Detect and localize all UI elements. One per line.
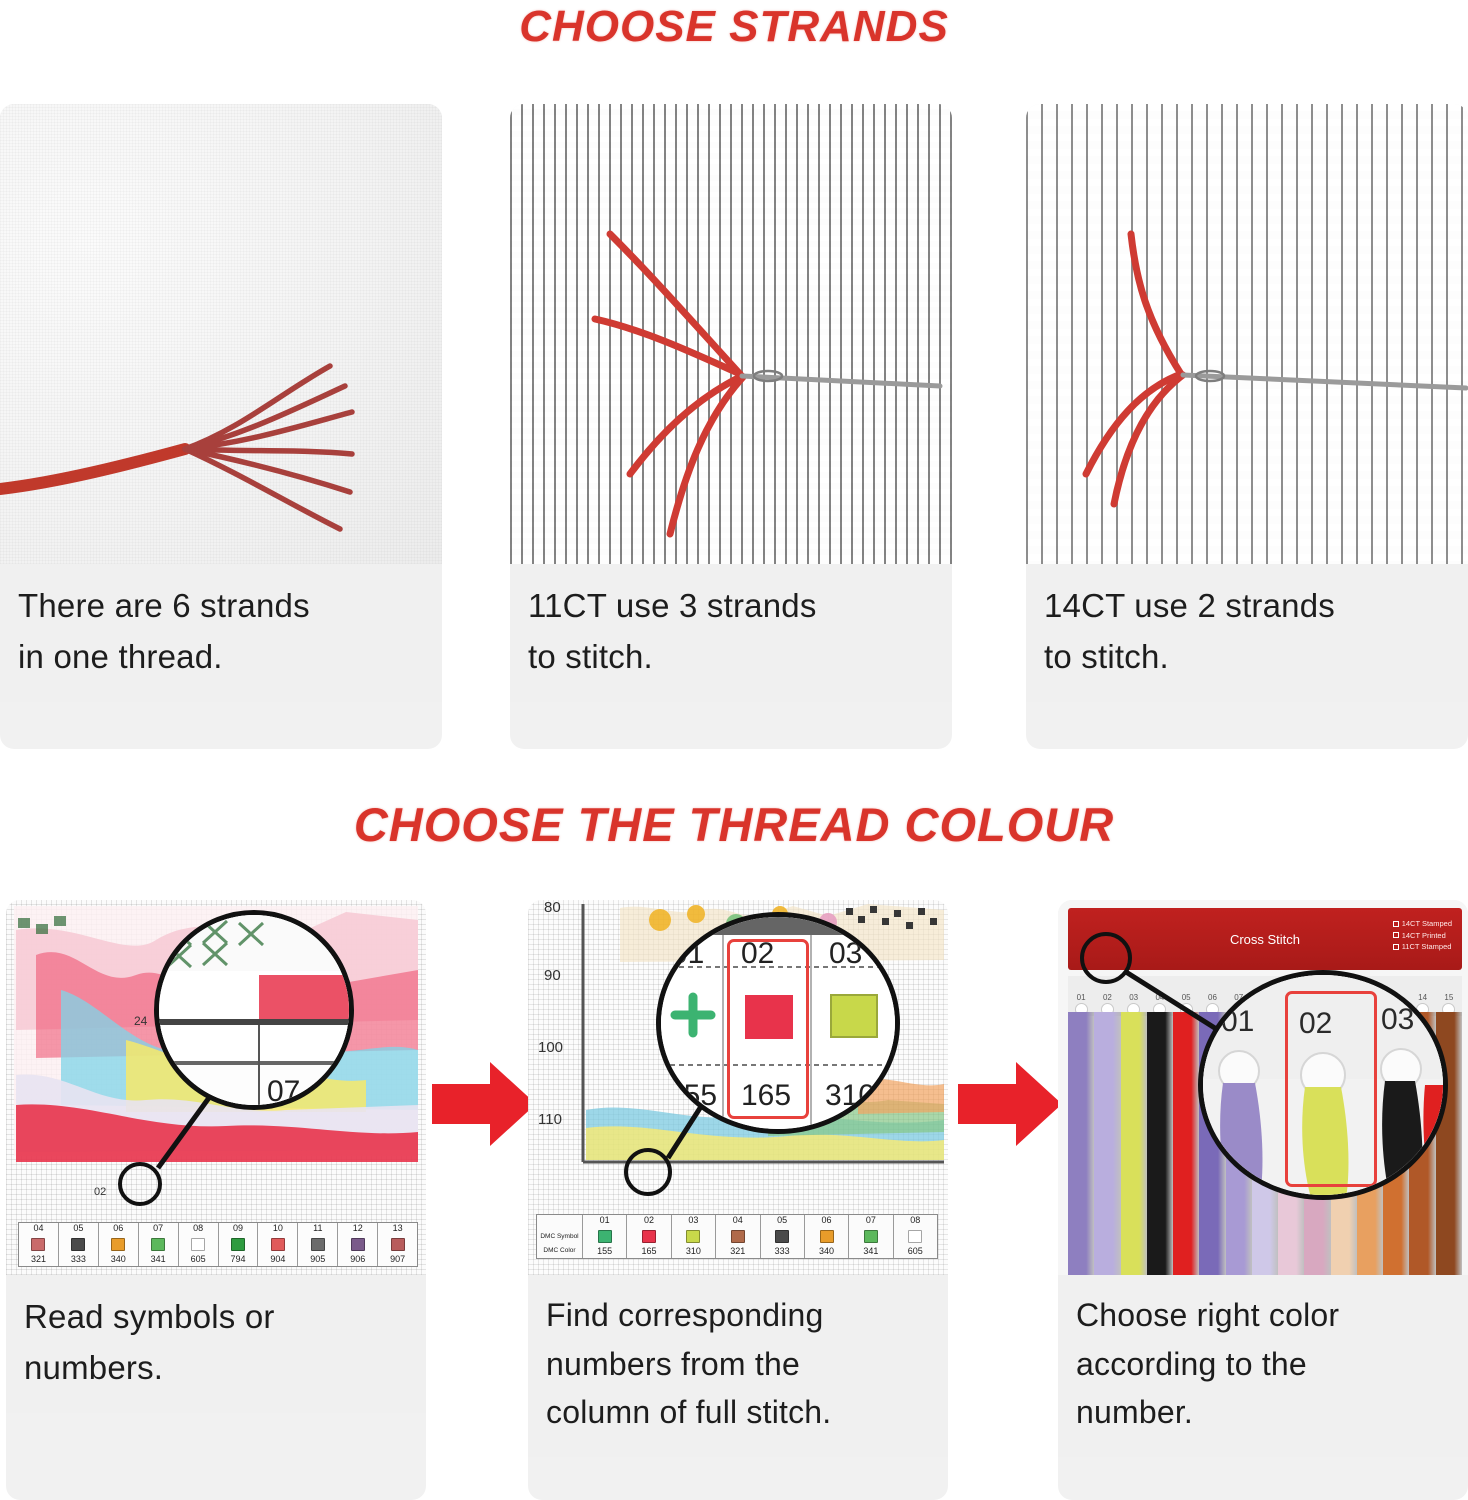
caption-line-3: number. [1076, 1388, 1450, 1437]
legend-code-cell: 321 [716, 1246, 760, 1258]
legend-header-cell: 12 [338, 1223, 378, 1235]
legend-code-cell: 333 [59, 1254, 99, 1266]
color-swatch [775, 1230, 789, 1243]
color-swatch [231, 1238, 245, 1251]
legend-swatch-cell [627, 1227, 671, 1246]
legend-code-cell: 605 [179, 1254, 219, 1266]
color-swatch [598, 1230, 612, 1243]
arrow-step-2-to-3 [958, 1058, 1062, 1150]
legend-code-row: DMC Color155165310321333340341605 [537, 1246, 937, 1258]
page-title-choose-strands: CHOOSE STRANDS [0, 2, 1468, 52]
page-title-choose-thread-colour: CHOOSE THE THREAD COLOUR [0, 797, 1468, 852]
pattern-chart-with-axis-photo: 80 90 100 110 [528, 900, 948, 1275]
legend-code-cell: 905 [298, 1254, 338, 1266]
legend-header-cell: 01 [583, 1215, 627, 1227]
magnifier-lens-symbols: 07 [154, 910, 354, 1110]
magnifier-label-03: 03 [1381, 1003, 1414, 1036]
caption-read-symbols: Read symbols or numbers. [6, 1275, 426, 1413]
legend-swatch-cell [258, 1235, 298, 1254]
arrow-step-1-to-2 [432, 1058, 536, 1150]
magnifier-number-07: 07 [267, 1075, 300, 1108]
six-strand-thread-illustration [0, 104, 442, 564]
color-swatch [311, 1238, 325, 1251]
legend-header-cell: 13 [378, 1223, 417, 1235]
caption-line-2: to stitch. [528, 631, 934, 682]
legend-code-cell: 341 [139, 1254, 179, 1266]
color-swatch [111, 1238, 125, 1251]
legend-header-cell: 11 [298, 1223, 338, 1235]
legend-code-cell: 907 [378, 1254, 417, 1266]
legend-swatch-cell [219, 1235, 259, 1254]
legend-swatch-cell [672, 1227, 716, 1246]
legend-swatch-cell [894, 1227, 937, 1246]
magnifier-lens-organizer: 01 02 03 [1198, 970, 1448, 1200]
magnifier-lens-numbers: 01 02 03 155 165 310 [656, 912, 900, 1134]
magnifier-symbol-cross [675, 997, 711, 1033]
legend-header-cell: 04 [19, 1223, 59, 1235]
full-stitch-legend-table: 0102030405060708 DMC Symbol DMC Color155… [536, 1214, 938, 1259]
legend-swatch-cell [19, 1235, 59, 1254]
pattern-chart-photo: 24 02 [6, 900, 426, 1275]
legend-swatch-cell [583, 1227, 627, 1246]
color-swatch [642, 1230, 656, 1243]
color-swatch [191, 1238, 205, 1251]
legend-code-cell: 904 [258, 1254, 298, 1266]
card-find-numbers: 80 90 100 110 [528, 900, 948, 1500]
legend-swatch-cell [805, 1227, 849, 1246]
infographic-page: CHOOSE STRANDS There are 6 strands [0, 0, 1468, 1500]
magnifier-header-01: 01 [671, 937, 704, 970]
card-choose-color: Cross Stitch 14CT Stamped14CT Printed11C… [1058, 900, 1468, 1500]
caption-line-3: column of full stitch. [546, 1388, 930, 1437]
caption-line-1: Choose right color [1076, 1291, 1450, 1340]
legend-swatch-cell [179, 1235, 219, 1254]
legend-row-label-symbol: DMC Symbol [537, 1227, 583, 1246]
magnifier-label-01: 01 [1221, 1005, 1254, 1038]
caption-line-2: in one thread. [18, 631, 424, 682]
legend-code-cell: 155 [583, 1246, 627, 1258]
needle-and-three-strands-illustration [510, 104, 952, 564]
legend-swatch-cell [139, 1235, 179, 1254]
legend-header-cell: 04 [716, 1215, 760, 1227]
legend-row-label-symbol [537, 1215, 583, 1227]
caption-11ct: 11CT use 3 strands to stitch. [510, 564, 952, 702]
needle-on-14ct-aida-photo [1026, 104, 1468, 564]
legend-header-cell: 02 [627, 1215, 671, 1227]
legend-code-cell: 333 [761, 1246, 805, 1258]
legend-header-cell: 10 [258, 1223, 298, 1235]
caption-line-1: Read symbols or [24, 1291, 408, 1342]
caption-line-1: There are 6 strands [18, 580, 424, 631]
caption-line-1: 11CT use 3 strands [528, 580, 934, 631]
card-read-symbols: 24 02 [6, 900, 426, 1500]
card-11ct: 11CT use 3 strands to stitch. [510, 104, 952, 749]
color-swatch [731, 1230, 745, 1243]
legend-symbol-row [19, 1235, 417, 1254]
legend-code-cell: 605 [894, 1246, 937, 1258]
color-swatch [864, 1230, 878, 1243]
legend-code-cell: 906 [338, 1254, 378, 1266]
color-swatch [71, 1238, 85, 1251]
legend-header-cell: 05 [761, 1215, 805, 1227]
needle-on-11ct-aida-photo [510, 104, 952, 564]
legend-code-cell: 321 [19, 1254, 59, 1266]
legend-header-cell: 08 [179, 1223, 219, 1235]
legend-swatch-cell [338, 1235, 378, 1254]
legend-code-cell: 165 [627, 1246, 671, 1258]
magnifier-swatch-green [831, 995, 877, 1037]
caption-six-strands: There are 6 strands in one thread. [0, 564, 442, 702]
legend-header-row: 0102030405060708 [537, 1215, 937, 1227]
caption-14ct: 14CT use 2 strands to stitch. [1026, 564, 1468, 702]
legend-swatch-cell [99, 1235, 139, 1254]
legend-header-cell: 06 [99, 1223, 139, 1235]
thread-organizer-photo: Cross Stitch 14CT Stamped14CT Printed11C… [1058, 900, 1468, 1275]
legend-header-cell: 06 [805, 1215, 849, 1227]
legend-code-cell: 310 [672, 1246, 716, 1258]
legend-swatch-cell [761, 1227, 805, 1246]
color-swatch [31, 1238, 45, 1251]
magnifier-code-155: 155 [667, 1079, 717, 1112]
legend-header-cell: 07 [139, 1223, 179, 1235]
magnifier-header-03: 03 [829, 937, 862, 970]
legend-header-cell: 08 [894, 1215, 937, 1227]
color-swatch [391, 1238, 405, 1251]
legend-header-row: 04050607080910111213 [19, 1223, 417, 1235]
card-six-strands: There are 6 strands in one thread. [0, 104, 442, 749]
legend-code-cell: 340 [99, 1254, 139, 1266]
magnifier-highlight-box [727, 939, 809, 1119]
legend-swatch-cell [849, 1227, 893, 1246]
legend-code-cell: 794 [219, 1254, 259, 1266]
legend-swatch-cell [59, 1235, 99, 1254]
legend-code-cell: 340 [805, 1246, 849, 1258]
color-swatch [151, 1238, 165, 1251]
caption-line-2: according to the [1076, 1340, 1450, 1389]
legend-code-cell: 341 [849, 1246, 893, 1258]
legend-header-cell: 09 [219, 1223, 259, 1235]
caption-line-2: numbers. [24, 1342, 408, 1393]
legend-swatch-cell [716, 1227, 760, 1246]
caption-line-1: Find corresponding [546, 1291, 930, 1340]
color-swatch [820, 1230, 834, 1243]
needle-and-two-strands-illustration [1026, 104, 1468, 564]
legend-swatch-cell [378, 1235, 417, 1254]
caption-choose-color: Choose right color according to the numb… [1058, 1275, 1468, 1457]
caption-find-numbers: Find corresponding numbers from the colu… [528, 1275, 948, 1457]
color-swatch [271, 1238, 285, 1251]
symbol-legend-table: 04050607080910111213 3213333403416057949… [18, 1222, 418, 1267]
legend-header-cell: 05 [59, 1223, 99, 1235]
card-14ct: 14CT use 2 strands to stitch. [1026, 104, 1468, 749]
color-swatch [686, 1230, 700, 1243]
legend-header-cell: 07 [849, 1215, 893, 1227]
legend-swatch-cell [298, 1235, 338, 1254]
legend-code-row: 321333340341605794904905906907 [19, 1254, 417, 1266]
legend-symbol-row: DMC Symbol [537, 1227, 937, 1246]
legend-row-label-code: DMC Color [537, 1246, 583, 1258]
caption-line-1: 14CT use 2 strands [1044, 580, 1450, 631]
legend-header-cell: 03 [672, 1215, 716, 1227]
magnifier-code-310: 310 [825, 1079, 875, 1112]
color-swatch [908, 1230, 922, 1243]
color-swatch [351, 1238, 365, 1251]
caption-line-2: numbers from the [546, 1340, 930, 1389]
caption-line-2: to stitch. [1044, 631, 1450, 682]
magnifier-highlight-box [1285, 991, 1377, 1187]
thread-fan-photo [0, 104, 442, 564]
